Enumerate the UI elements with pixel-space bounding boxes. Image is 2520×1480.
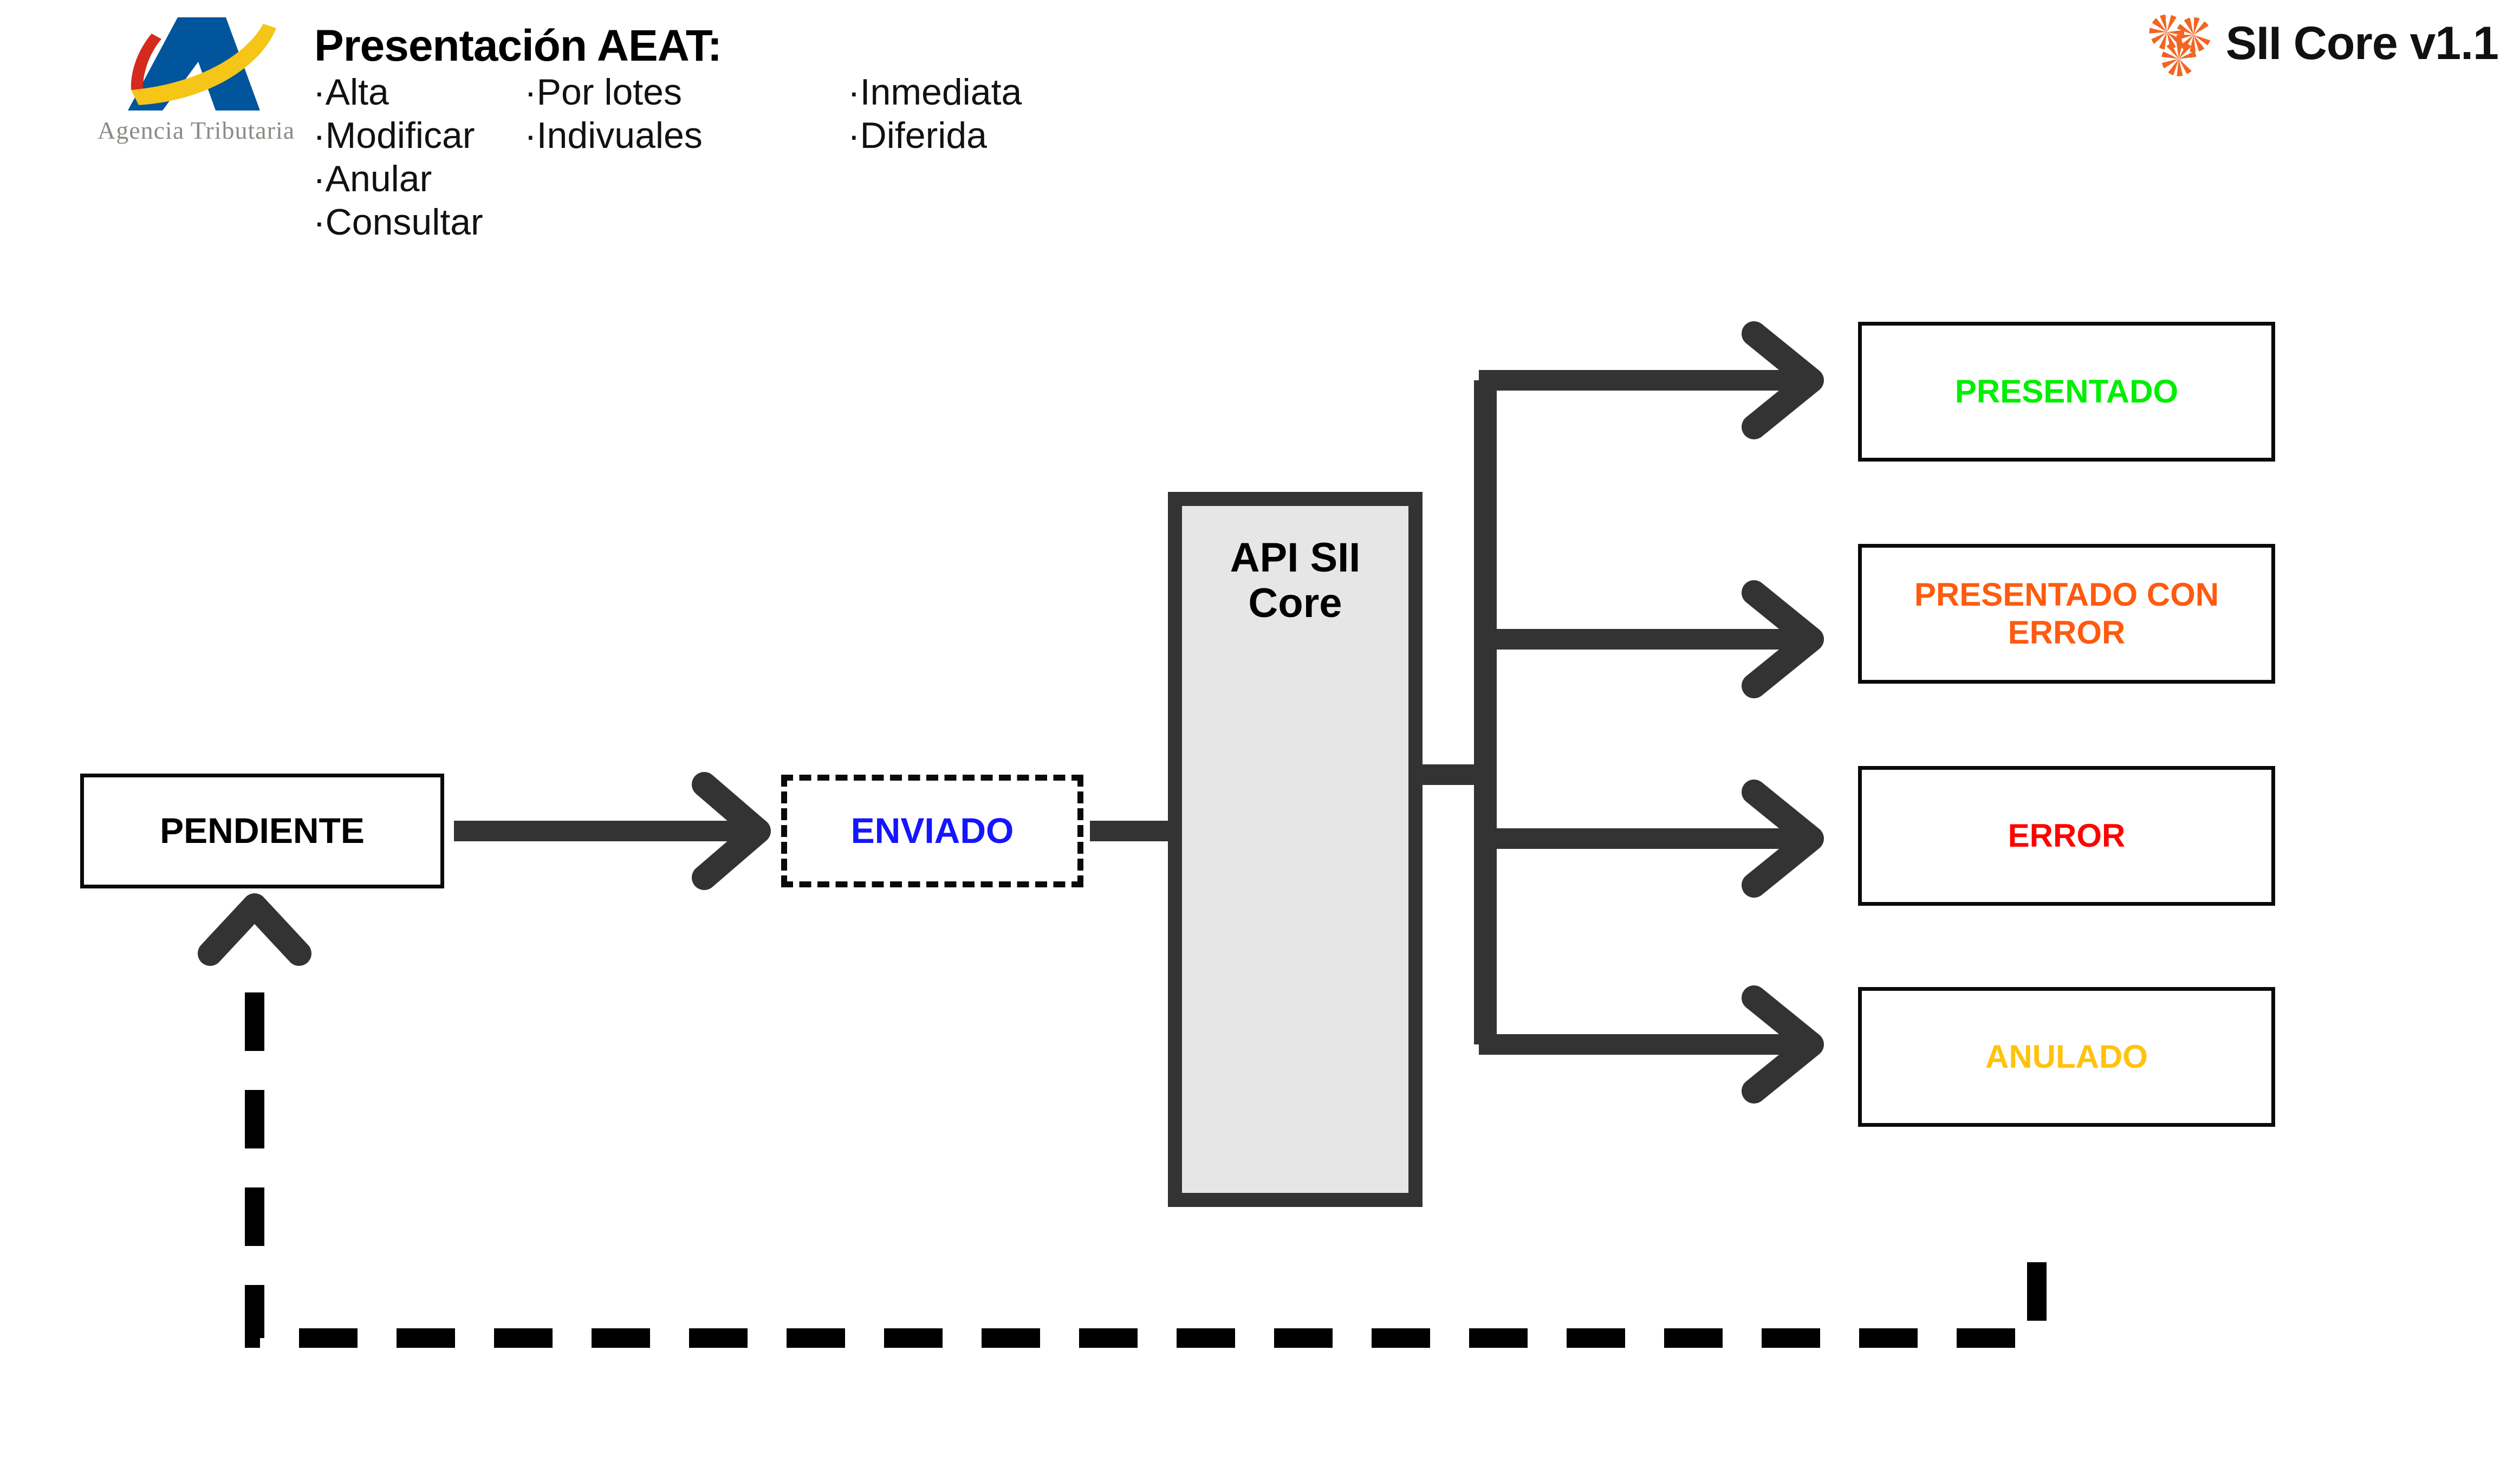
status-box-anulado[interactable]: ANULADO: [1858, 987, 2275, 1127]
agency-wordmark: Agencia Tributaria: [98, 116, 293, 145]
header-options-column-2: ·Por lotes ·Indivuales: [524, 70, 703, 157]
header-option-inmediata: ·Inmediata: [848, 70, 1022, 114]
node-enviado[interactable]: ENVIADO: [781, 775, 1083, 887]
sii-core-spiral-logo-icon: [2146, 8, 2216, 79]
status-box-presentado-con-error[interactable]: PRESENTADO CON ERROR: [1858, 544, 2275, 684]
header-option-indivuales: ·Indivuales: [524, 114, 703, 157]
header-options-column-1: ·Alta ·Modificar ·Anular ·Consultar: [313, 70, 483, 244]
status-box-error[interactable]: ERROR: [1858, 766, 2275, 906]
agencia-tributaria-logo: Agencia Tributaria: [98, 10, 293, 167]
node-api-label-line1: API: [1230, 535, 1299, 581]
status-label-presentado-con-error-line1: PRESENTADO: [1914, 576, 2138, 613]
diagram-canvas: Agencia Tributaria Presentación AEAT: ·A…: [0, 0, 2520, 1480]
agencia-tributaria-mark-icon: [98, 10, 293, 118]
node-pendiente-label: PENDIENTE: [160, 811, 365, 851]
sii-core-brand-label: SII Core v1.1: [2226, 17, 2498, 70]
header-options-column-3: ·Inmediata ·Diferida: [848, 70, 1022, 157]
arrowhead-to-presentado-con-error: [1754, 593, 1811, 686]
edge-feedback-dashed: [255, 953, 2037, 1338]
status-label-presentado: PRESENTADO: [1955, 373, 2178, 411]
arrowhead-to-enviado: [704, 784, 758, 878]
arrowhead-to-anulado: [1754, 998, 1811, 1091]
status-label-error: ERROR: [2008, 817, 2126, 855]
status-label-anulado: ANULADO: [1985, 1038, 2148, 1076]
arrowhead-to-error: [1754, 792, 1811, 885]
header-option-anular: ·Anular: [313, 157, 483, 200]
header-option-por-lotes: ·Por lotes: [524, 70, 703, 114]
arrowhead-to-presentado: [1754, 334, 1811, 427]
header-option-consultar: ·Consultar: [313, 200, 483, 244]
page-title: Presentación AEAT:: [314, 21, 722, 72]
node-enviado-label: ENVIADO: [851, 811, 1014, 851]
header-option-modificar: ·Modificar: [313, 114, 483, 157]
status-box-presentado[interactable]: PRESENTADO: [1858, 322, 2275, 462]
sii-core-brand: SII Core v1.1: [2146, 8, 2498, 79]
header-option-diferida: ·Diferida: [848, 114, 1022, 157]
node-api-sii-core[interactable]: API SII Core: [1168, 492, 1423, 1207]
arrowhead-feedback-to-pendiente: [210, 906, 299, 953]
node-pendiente[interactable]: PENDIENTE: [80, 774, 444, 888]
header-option-alta: ·Alta: [313, 70, 483, 114]
